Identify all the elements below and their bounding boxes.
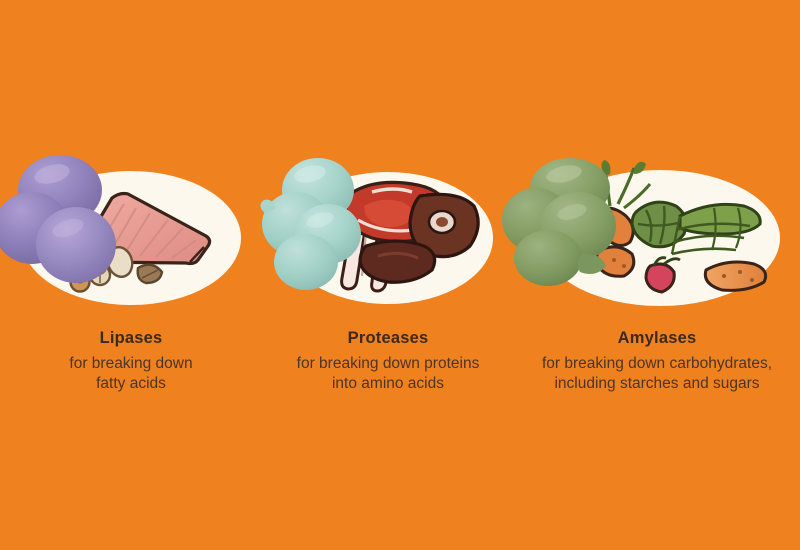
eggplant-third-icon [36, 207, 116, 283]
caption-lipases: Lipases for breaking down fatty acids [69, 328, 192, 395]
sweet-potato-icon [705, 262, 765, 290]
plate-proteases [262, 150, 514, 310]
panel-amylases: Amylases for breaking down carbohydrates… [514, 150, 800, 395]
enzyme-infographic: Lipases for breaking down fatty acids [0, 0, 800, 550]
plate-lipases [0, 150, 262, 310]
plate-amylases [514, 150, 800, 310]
panel-description-lipases: for breaking down fatty acids [69, 354, 192, 395]
liver-icon [360, 241, 435, 282]
fats-foods-plate-illustration [0, 150, 262, 310]
panel-description-amylases: for breaking down carbohydrates, includi… [542, 354, 772, 395]
panel-title-amylases: Amylases [542, 328, 772, 350]
panel-title-lipases: Lipases [69, 328, 192, 350]
panel-proteases: Proteases for breaking down proteins int… [262, 150, 514, 395]
protein-foods-plate-illustration [262, 150, 514, 310]
caption-proteases: Proteases for breaking down proteins int… [297, 328, 480, 395]
panel-description-proteases: for breaking down proteins into amino ac… [297, 354, 480, 395]
caption-amylases: Amylases for breaking down carbohydrates… [542, 328, 772, 395]
panel-row: Lipases for breaking down fatty acids [0, 0, 800, 550]
carbohydrate-foods-plate-illustration [514, 150, 800, 310]
panel-lipases: Lipases for breaking down fatty acids [0, 150, 262, 395]
panel-title-proteases: Proteases [297, 328, 480, 350]
